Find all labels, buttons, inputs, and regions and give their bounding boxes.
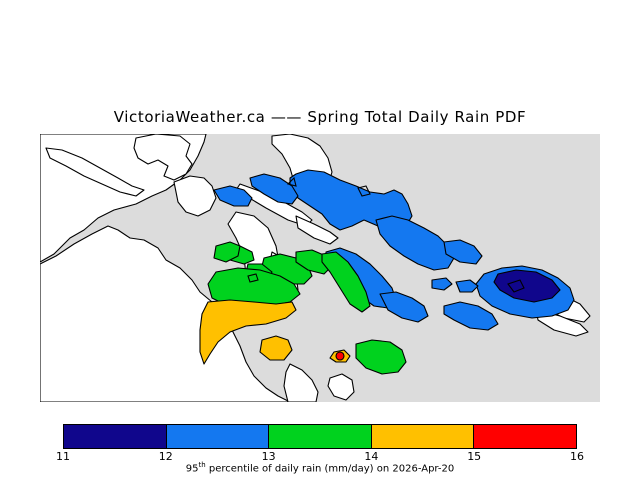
colorbar-bands[interactable] [63, 424, 577, 449]
colorbar[interactable] [63, 424, 577, 449]
region-orange-islet [260, 336, 292, 360]
colorbar-band-13-14[interactable] [269, 425, 372, 448]
colorbar-band-11-12[interactable] [64, 425, 167, 448]
colorbar-band-14-15[interactable] [372, 425, 475, 448]
colorbar-band-15-16[interactable] [474, 425, 576, 448]
caption-rest: percentile of daily rain (mm/day) on 202… [206, 463, 455, 474]
caption-prefix: 95 [186, 463, 199, 474]
map-canvas[interactable] [40, 134, 600, 402]
region-red-station-marker [336, 352, 344, 360]
colorbar-band-12-13[interactable] [167, 425, 270, 448]
map-panel[interactable] [40, 134, 600, 402]
colorbar-caption: 95th percentile of daily rain (mm/day) o… [0, 461, 640, 474]
page-root: VictoriaWeather.ca —— Spring Total Daily… [0, 0, 640, 480]
page-title: VictoriaWeather.ca —— Spring Total Daily… [0, 108, 640, 126]
caption-ordinal-suffix: th [199, 461, 206, 469]
